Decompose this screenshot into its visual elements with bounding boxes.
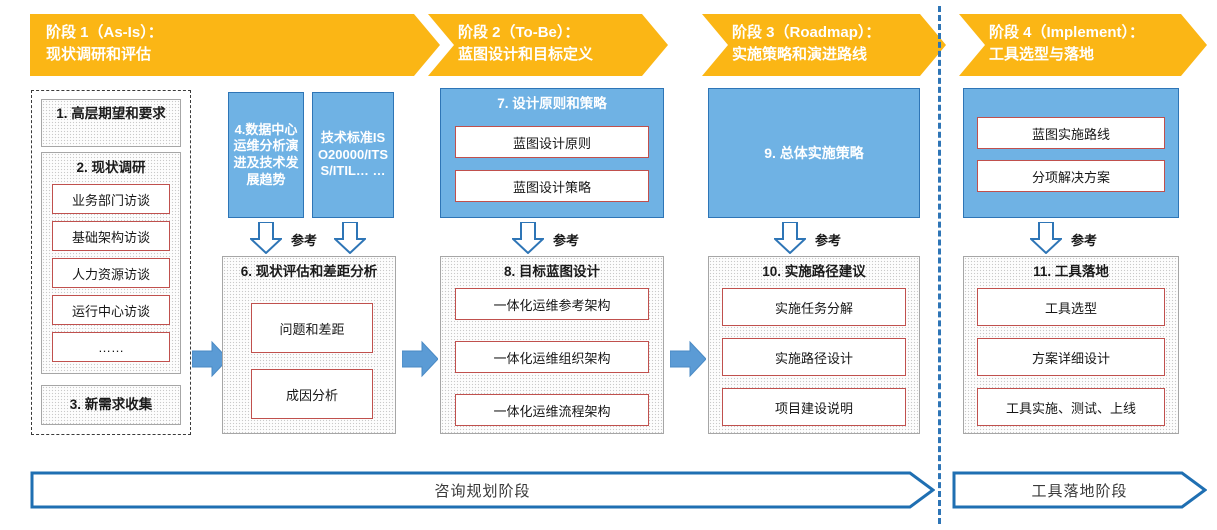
box-tech-standards-label: 技术标准ISO20000/ITSS/ITIL… … (316, 130, 390, 180)
box-1-high-level-expectations[interactable]: 1. 高层期望和要求 (41, 99, 181, 147)
box-11-title: 11. 工具落地 (964, 264, 1178, 281)
box-8-title: 8. 目标蓝图设计 (441, 264, 663, 281)
phase-header-4-line2: 工具选型与落地 (989, 44, 1207, 66)
phase-header-3-line1: 阶段 3（Roadmap）： (732, 22, 946, 44)
phase-header-2-line1: 阶段 2（To-Be）： (458, 22, 668, 44)
box-10-item-2[interactable]: 项目建设说明 (722, 388, 906, 426)
phase-header-4-line1: 阶段 4（Implement）： (989, 22, 1207, 44)
phase-header-3[interactable]: 阶段 3（Roadmap）： 实施策略和演进路线 (702, 14, 946, 76)
reference-label-5: 参考 (1071, 230, 1097, 249)
box-2-item-0[interactable]: 业务部门访谈 (52, 184, 170, 214)
phase-divider (938, 6, 941, 524)
reference-label-2: 参考 (291, 230, 317, 249)
banner-tool-landing-phase[interactable]: 工具落地阶段 (952, 470, 1207, 510)
box-7-title: 7. 设计原则和策略 (441, 96, 663, 113)
reference-down-arrow-2a (250, 222, 282, 254)
phase-header-2-line2: 蓝图设计和目标定义 (458, 44, 668, 66)
flow-arrow-2 (402, 340, 438, 378)
box-11-item-0[interactable]: 工具选型 (977, 288, 1165, 326)
flow-arrow-3 (670, 340, 706, 378)
box-tech-standards[interactable]: 技术标准ISO20000/ITSS/ITIL… … (312, 92, 394, 218)
box-11-item-1[interactable]: 方案详细设计 (977, 338, 1165, 376)
reference-down-arrow-3 (512, 222, 544, 254)
box-9-overall-strategy[interactable]: 9. 总体实施策略 (708, 88, 920, 218)
box-2-item-1[interactable]: 基础架构访谈 (52, 221, 170, 251)
box-6-title: 6. 现状评估和差距分析 (223, 264, 395, 281)
phase-header-1-line1: 阶段 1（As-Is）： (46, 22, 440, 44)
reference-label-3: 参考 (553, 230, 579, 249)
box-2-item-2[interactable]: 人力资源访谈 (52, 258, 170, 288)
column-5-blue-item-1[interactable]: 分项解决方案 (977, 160, 1165, 192)
banner-consulting-phase[interactable]: 咨询规划阶段 (30, 470, 935, 510)
process-diagram: 阶段 1（As-Is）： 现状调研和评估 阶段 2（To-Be）： 蓝图设计和目… (0, 0, 1217, 530)
reference-down-arrow-2b (334, 222, 366, 254)
box-4-label: 4.数据中心运维分析演进及技术发展趋势 (232, 122, 300, 189)
box-2-item-4[interactable]: …… (52, 332, 170, 362)
reference-down-arrow-4 (774, 222, 806, 254)
box-8-item-2[interactable]: 一体化运维流程架构 (455, 394, 649, 426)
banner-tool-landing-label: 工具落地阶段 (1031, 480, 1127, 501)
banner-consulting-label: 咨询规划阶段 (434, 480, 530, 501)
box-9-title: 9. 总体实施策略 (709, 145, 919, 163)
box-2-title: 2. 现状调研 (42, 160, 180, 177)
column-5-blue-item-0[interactable]: 蓝图实施路线 (977, 117, 1165, 149)
box-7-item-1[interactable]: 蓝图设计策略 (455, 170, 649, 202)
reference-down-arrow-5 (1030, 222, 1062, 254)
blueprint-implementation-blue-box[interactable] (963, 88, 1179, 218)
reference-label-4: 参考 (815, 230, 841, 249)
box-8-item-1[interactable]: 一体化运维组织架构 (455, 341, 649, 373)
box-10-title: 10. 实施路径建议 (709, 264, 919, 281)
phase-header-1-line2: 现状调研和评估 (46, 44, 440, 66)
phase-header-4[interactable]: 阶段 4（Implement）： 工具选型与落地 (959, 14, 1207, 76)
box-8-item-0[interactable]: 一体化运维参考架构 (455, 288, 649, 320)
box-11-item-2[interactable]: 工具实施、测试、上线 (977, 388, 1165, 426)
box-4-datacenter-ops-analysis[interactable]: 4.数据中心运维分析演进及技术发展趋势 (228, 92, 304, 218)
phase-header-3-line2: 实施策略和演进路线 (732, 44, 946, 66)
box-1-title: 1. 高层期望和要求 (42, 106, 180, 123)
phase-header-1[interactable]: 阶段 1（As-Is）： 现状调研和评估 (30, 14, 440, 76)
box-7-item-0[interactable]: 蓝图设计原则 (455, 126, 649, 158)
box-6-item-1[interactable]: 成因分析 (251, 369, 373, 419)
box-3-title: 3. 新需求收集 (42, 397, 180, 414)
box-3-new-requirements[interactable]: 3. 新需求收集 (41, 385, 181, 425)
box-10-item-0[interactable]: 实施任务分解 (722, 288, 906, 326)
box-2-item-3[interactable]: 运行中心访谈 (52, 295, 170, 325)
box-10-item-1[interactable]: 实施路径设计 (722, 338, 906, 376)
box-6-item-0[interactable]: 问题和差距 (251, 303, 373, 353)
phase-header-2[interactable]: 阶段 2（To-Be）： 蓝图设计和目标定义 (428, 14, 668, 76)
